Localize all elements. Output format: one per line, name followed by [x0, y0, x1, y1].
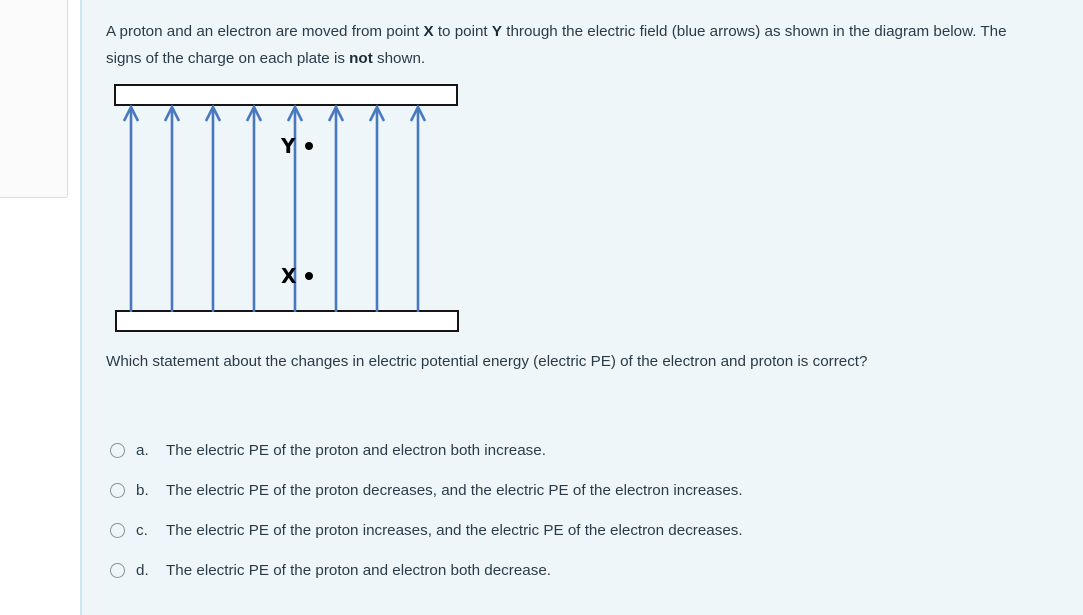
- option-row-a[interactable]: a. The electric PE of the proton and ele…: [110, 440, 1050, 480]
- question-info-panel: 7 ut of: [0, 0, 68, 198]
- option-row-c[interactable]: c. The electric PE of the proton increas…: [110, 520, 1050, 560]
- field-arrow-4: [247, 107, 261, 312]
- field-arrow-8: [411, 107, 425, 312]
- point-x-label: X: [281, 266, 296, 286]
- answer-options-list: a. The electric PE of the proton and ele…: [110, 440, 1050, 600]
- stem-emphasis-not: not: [349, 50, 373, 67]
- field-arrow-6: [329, 107, 343, 312]
- option-text-c[interactable]: The electric PE of the proton increases,…: [166, 520, 743, 541]
- option-letter-d: d.: [136, 560, 166, 581]
- option-letter-b: b.: [136, 480, 166, 501]
- field-arrow-2: [165, 107, 179, 312]
- stem-point-y: Y: [492, 23, 502, 40]
- option-row-d[interactable]: d. The electric PE of the proton and ele…: [110, 560, 1050, 600]
- stem-part-2: to point: [434, 23, 492, 40]
- field-arrows-group: [114, 84, 466, 338]
- stem-point-x: X: [423, 23, 433, 40]
- point-x-dot: [305, 272, 313, 280]
- option-letter-c: c.: [136, 520, 166, 541]
- question-number-label: 7: [0, 1, 59, 23]
- stem-part-1: A proton and an electron are moved from …: [106, 23, 423, 40]
- radio-button-d[interactable]: [110, 563, 125, 578]
- option-text-a[interactable]: The electric PE of the proton and electr…: [166, 440, 546, 461]
- question-prompt: Which statement about the changes in ele…: [106, 348, 1041, 375]
- option-text-b[interactable]: The electric PE of the proton decreases,…: [166, 480, 743, 501]
- field-arrow-1: [124, 107, 138, 312]
- option-text-d[interactable]: The electric PE of the proton and electr…: [166, 560, 551, 581]
- field-arrow-7: [370, 107, 384, 312]
- radio-button-c[interactable]: [110, 523, 125, 538]
- field-arrow-3: [206, 107, 220, 312]
- electric-field-diagram: Y X: [114, 84, 466, 338]
- option-letter-a: a.: [136, 440, 166, 461]
- option-row-b[interactable]: b. The electric PE of the proton decreas…: [110, 480, 1050, 520]
- stem-part-4: shown.: [373, 50, 425, 67]
- point-y-label: Y: [281, 136, 295, 156]
- question-stem: A proton and an electron are moved from …: [106, 18, 1041, 72]
- radio-button-a[interactable]: [110, 443, 125, 458]
- radio-button-b[interactable]: [110, 483, 125, 498]
- question-content-panel: A proton and an electron are moved from …: [80, 0, 1083, 615]
- point-y-dot: [305, 142, 313, 150]
